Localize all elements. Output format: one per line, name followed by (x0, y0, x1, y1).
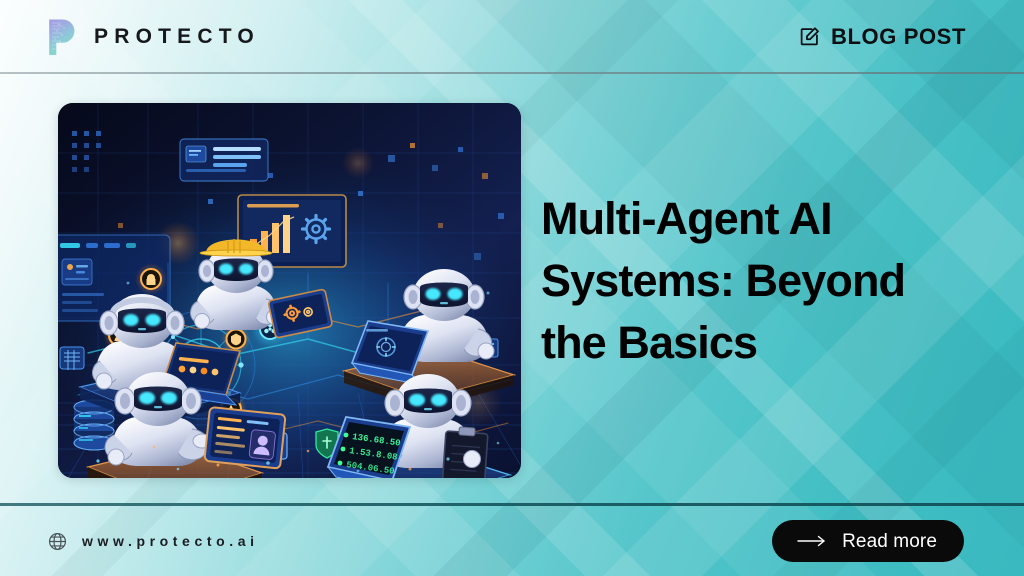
edit-square-pencil-icon (799, 26, 820, 47)
footer-bar: www.protecto.ai Read more (0, 506, 1024, 576)
protecto-p-logomark-icon (46, 17, 78, 57)
read-more-button[interactable]: Read more (772, 520, 964, 562)
arrow-right-icon (797, 535, 827, 547)
website-url-text: www.protecto.ai (82, 534, 259, 548)
page-title: Multi-Agent AI Systems: Beyond the Basic… (541, 188, 961, 374)
brand-wordmark: PROTECTO (92, 26, 260, 47)
blog-post-badge-label: BLOG POST (831, 26, 966, 48)
website-link[interactable]: www.protecto.ai (48, 532, 259, 551)
header-divider (0, 72, 1024, 74)
hero-illustration-card: 136.68.50 1.53.8.08 504.06.50 (58, 103, 521, 478)
globe-icon (48, 532, 67, 551)
read-more-label: Read more (842, 532, 937, 551)
blog-post-badge: BLOG POST (799, 26, 966, 48)
header-bar: PROTECTO BLOG POST (0, 0, 1024, 73)
brand-logo[interactable]: PROTECTO (46, 17, 260, 57)
hero-illustration: 136.68.50 1.53.8.08 504.06.50 (58, 103, 521, 478)
blog-post-banner: PROTECTO BLOG POST (0, 0, 1024, 576)
